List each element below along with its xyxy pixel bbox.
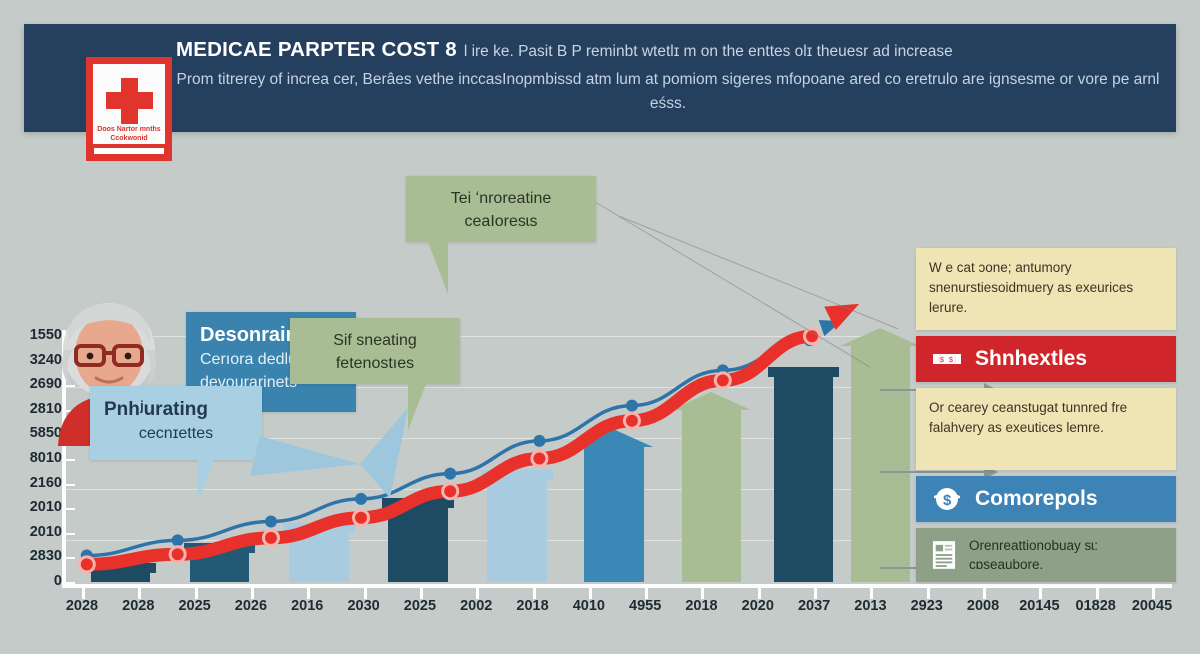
- infographic-root: Doos Nartor mnths Ccokwonid MEDICAE PARP…: [0, 0, 1200, 654]
- blue-callout-body: cecnɪettes: [104, 422, 248, 445]
- red-line-marker: [263, 530, 278, 545]
- x-axis-label: 2025: [178, 598, 210, 614]
- x-axis-label: 2020: [742, 598, 774, 614]
- y-axis-label: 0: [0, 573, 62, 589]
- dollar-coin-icon: $: [932, 485, 962, 513]
- red-line-marker: [624, 413, 639, 428]
- blue-callout-tail: [198, 460, 214, 502]
- rail-band-blue-label: Comorepols: [975, 487, 1098, 511]
- green-callout-upper-body: Tei ʻnroreatine ceaIoresɩs: [420, 187, 582, 233]
- x-axis-label: 2016: [291, 598, 323, 614]
- x-axis-label: 4010: [573, 598, 605, 614]
- green-callout-lower[interactable]: Sif sneating fetenostıes: [290, 318, 460, 384]
- leader-line: [620, 216, 899, 329]
- chart-area: 1550324026902810585080102160201020102830…: [0, 132, 1200, 654]
- green-callout-upper-tail: [428, 242, 448, 294]
- blue-line-marker: [172, 534, 184, 546]
- x-axis-label: 01828: [1076, 598, 1116, 614]
- x-axis-label: 2025: [404, 598, 436, 614]
- rail-band-red-label: Shnhextles: [975, 347, 1087, 371]
- x-axis-label: 2037: [798, 598, 830, 614]
- blue-callout-left[interactable]: Pnhʲurating cecnɪettes: [90, 386, 262, 460]
- y-axis-label: 2160: [0, 475, 62, 491]
- y-axis-label: 2010: [0, 499, 62, 515]
- rail-band-blue[interactable]: $ Comorepols: [916, 476, 1176, 522]
- header-subtitle: Prom titrerey of increa cer, Berâes veth…: [176, 68, 1160, 116]
- rail-note-mid: Or cearey ceanstugat tunnred fre falahve…: [916, 388, 1176, 470]
- x-axis-label: 2030: [347, 598, 379, 614]
- red-cross-horizontal: [106, 92, 153, 109]
- y-axis-label: 2830: [0, 548, 62, 564]
- x-axis-label: 2008: [967, 598, 999, 614]
- svg-text:$: $: [943, 492, 952, 509]
- x-axis-label: 2018: [516, 598, 548, 614]
- rail-band-red[interactable]: $ $ Shnhextles: [916, 336, 1176, 382]
- red-line-marker: [170, 547, 185, 562]
- y-axis-label: 8010: [0, 450, 62, 466]
- header-banner: Doos Nartor mnths Ccokwonid MEDICAE PARP…: [24, 24, 1176, 132]
- green-callout-lower-body: Sif sneating fetenostıes: [304, 329, 446, 375]
- page-title: MEDICAE PARPTER COST 8: [176, 38, 457, 61]
- x-axis-label: 2028: [122, 598, 154, 614]
- x-axis-label: 2013: [854, 598, 886, 614]
- header-title-row: MEDICAE PARPTER COST 8l ire ke. Pasit B …: [176, 38, 1162, 62]
- x-axis-label: 20045: [1132, 598, 1172, 614]
- x-axis-label: 2026: [235, 598, 267, 614]
- x-axis-label: 2002: [460, 598, 492, 614]
- x-axis-label: 2923: [911, 598, 943, 614]
- document-icon: [932, 539, 956, 571]
- money-icon: $ $: [932, 347, 962, 371]
- blue-callout-title: Pnhʲurating: [104, 397, 248, 422]
- blue-line-marker: [626, 400, 638, 412]
- pointer-wedges: [240, 406, 540, 526]
- y-axis-label: 2010: [0, 524, 62, 540]
- x-axis-label: 4955: [629, 598, 661, 614]
- svg-text:$: $: [940, 357, 944, 364]
- svg-text:$: $: [949, 357, 953, 364]
- x-axis-label: 2028: [66, 598, 98, 614]
- red-line-marker: [715, 373, 730, 388]
- green-callout-upper[interactable]: Tei ʻnroreatine ceaIoresɩs: [406, 176, 596, 242]
- x-axis-label: 20145: [1019, 598, 1059, 614]
- red-line-marker: [79, 557, 94, 572]
- rail-note-top: W e cat ɔone; antumory snenurstiesoidmue…: [916, 248, 1176, 330]
- page-title-tail: l ire ke. Pasit B P reminbt wtetlɪ m on …: [457, 43, 953, 60]
- rail-band-green-label: Orenreattionobuay sɩ: cɒseaubore.: [969, 536, 1160, 574]
- rail-band-green[interactable]: Orenreattionobuay sɩ: cɒseaubore.: [916, 528, 1176, 582]
- x-axis-label: 2018: [685, 598, 717, 614]
- y-axis-tick: [66, 582, 75, 584]
